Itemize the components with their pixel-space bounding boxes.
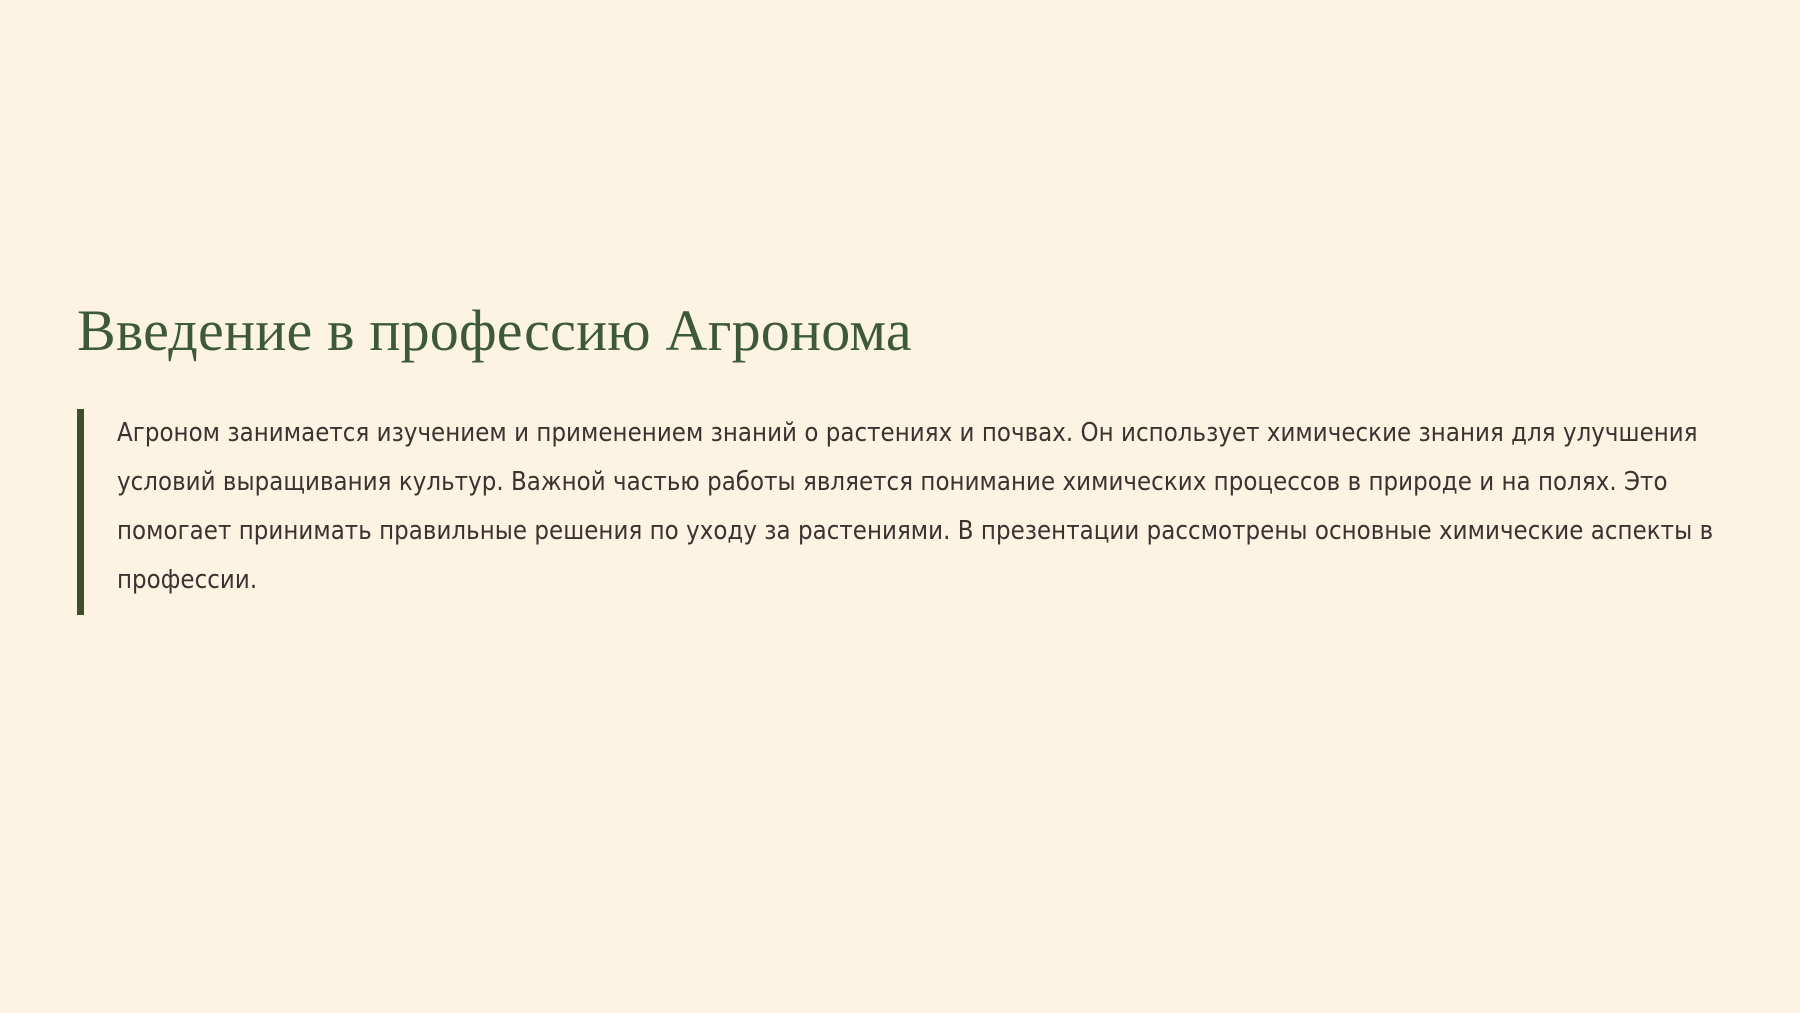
body-text-block: Агроном занимается изучением и применени… [77,409,1737,605]
accent-bar [77,409,84,615]
body-paragraph: Агроном занимается изучением и применени… [117,409,1742,605]
slide-content-container: Введение в профессию Агронома Агроном за… [77,300,1737,605]
presentation-slide: Введение в профессию Агронома Агроном за… [0,0,1800,1013]
page-title: Введение в профессию Агронома [77,300,1737,361]
